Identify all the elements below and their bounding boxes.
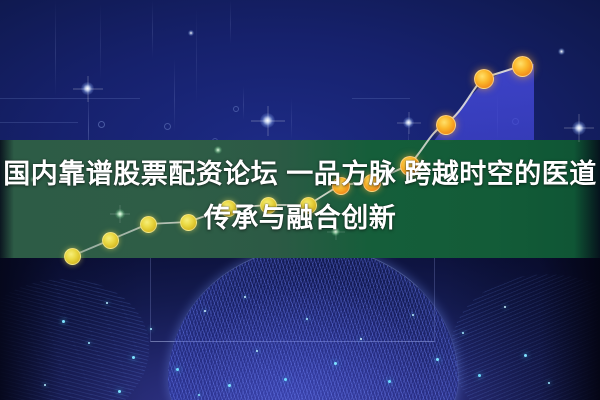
banner-image: 国内靠谱股票配资论坛 一品方脉 跨越时空的医道 传承与融合创新 [0,0,600,400]
headline-line-2: 传承与融合创新 [0,196,600,240]
chart-marker [474,69,494,89]
page-title: 国内靠谱股票配资论坛 一品方脉 跨越时空的医道 传承与融合创新 [0,152,600,240]
chart-marker [64,248,81,265]
headline-line-1: 国内靠谱股票配资论坛 一品方脉 跨越时空的医道 [3,159,597,189]
chart-marker [436,115,456,135]
chart-marker [512,56,533,77]
